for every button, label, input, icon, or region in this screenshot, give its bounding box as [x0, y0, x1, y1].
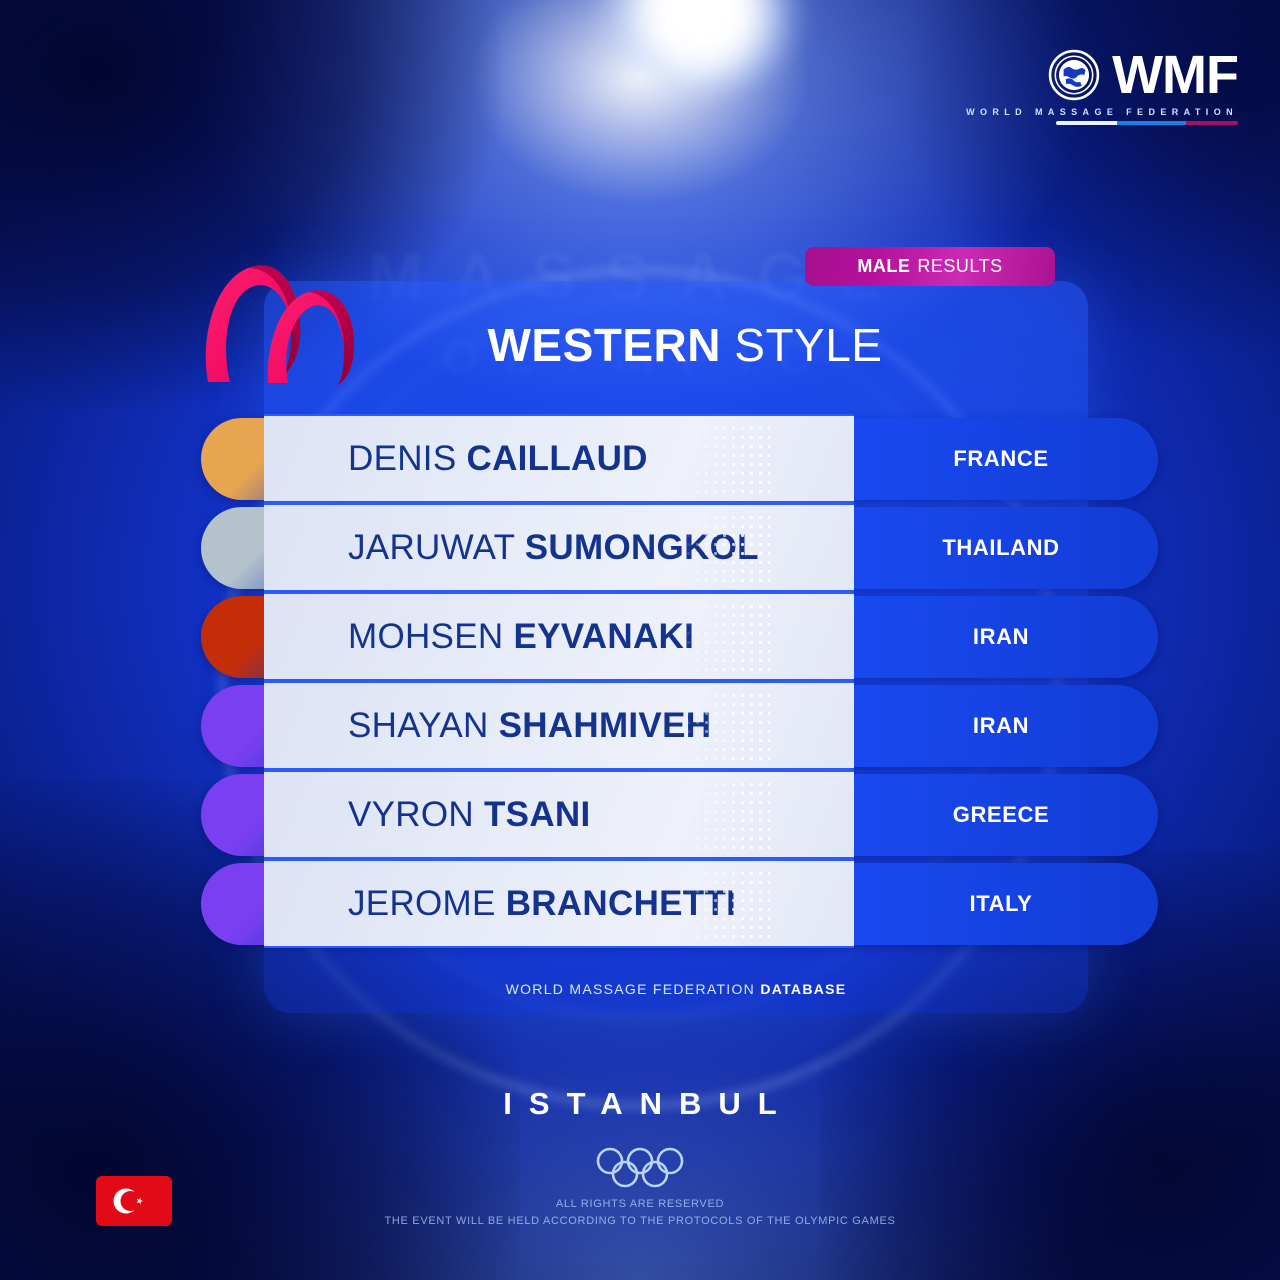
table-row[interactable]: FRANCE1DENIS CAILLAUD: [201, 414, 1158, 503]
athlete-last-name: CAILLAUD: [467, 439, 648, 478]
results-badge-label: RESULTS: [917, 256, 1002, 277]
athlete-name: SHAYAN SHAHMIVEH: [348, 706, 711, 746]
legal-line-1: ALL RIGHTS ARE RESERVED: [0, 1196, 1280, 1213]
wmf-accent-bar: [1056, 121, 1238, 125]
country-name: THAILAND: [872, 507, 1130, 589]
athlete-first-name: VYRON: [348, 795, 474, 834]
table-row[interactable]: THAILAND2JARUWAT SUMONGKOL: [201, 503, 1158, 592]
athlete-last-name: EYVANAKI: [513, 617, 694, 656]
table-row[interactable]: GREECE5VYRON TSANI: [201, 770, 1158, 859]
athlete-first-name: DENIS: [348, 439, 456, 478]
name-plate: DENIS CAILLAUD: [264, 414, 854, 503]
athlete-name: VYRON TSANI: [348, 795, 591, 835]
results-badge-gender: MALE: [857, 256, 910, 277]
athlete-first-name: MOHSEN: [348, 617, 503, 656]
host-city: ISTANBUL: [0, 1086, 1280, 1122]
globe-icon: [1048, 49, 1100, 101]
olympic-rings-icon: [594, 1147, 686, 1189]
table-row[interactable]: IRAN3MOHSEN EYVANAKI⚜: [201, 592, 1158, 681]
halftone-dots-decoration: [684, 780, 770, 852]
name-plate: VYRON TSANI: [264, 770, 854, 859]
name-plate: SHAYAN SHAHMIVEH⚜: [264, 681, 854, 770]
halftone-dots-decoration: [684, 602, 770, 674]
table-row[interactable]: ITALY6JEROME BRANCHETTI: [201, 859, 1158, 948]
athlete-first-name: SHAYAN: [348, 706, 489, 745]
halftone-dots-decoration: [684, 691, 770, 763]
database-caption-light: WORLD MASSAGE FEDERATION: [506, 981, 756, 997]
page-title: WESTERN STYLE: [420, 318, 950, 372]
m-ribbon-logo-icon: [196, 252, 366, 387]
wmf-logo-row: WMF: [1048, 48, 1238, 102]
database-caption-bold: DATABASE: [760, 981, 846, 997]
legal-notice: ALL RIGHTS ARE RESERVED THE EVENT WILL B…: [0, 1196, 1280, 1230]
name-plate: MOHSEN EYVANAKI⚜: [264, 592, 854, 681]
country-name: IRAN: [872, 685, 1130, 767]
wmf-initials: WMF: [1112, 48, 1238, 102]
halftone-dots-decoration: [684, 424, 770, 496]
table-row[interactable]: IRAN4SHAYAN SHAHMIVEH⚜: [201, 681, 1158, 770]
results-list: FRANCE1DENIS CAILLAUDTHAILAND2JARUWAT SU…: [201, 414, 1158, 948]
name-plate: JEROME BRANCHETTI: [264, 859, 854, 948]
male-results-badge: MALE RESULTS: [805, 247, 1055, 286]
page-title-bold: WESTERN: [487, 319, 721, 371]
database-caption: WORLD MASSAGE FEDERATION DATABASE: [264, 981, 1088, 997]
athlete-first-name: JARUWAT: [348, 528, 515, 567]
wmf-logo: WMF WORLD MASSAGE FEDERATION: [966, 48, 1238, 125]
page-title-light: STYLE: [734, 319, 882, 371]
halftone-dots-decoration: [684, 869, 770, 941]
athlete-last-name: TSANI: [484, 795, 591, 834]
wmf-subtitle: WORLD MASSAGE FEDERATION: [966, 107, 1238, 117]
country-name: FRANCE: [872, 418, 1130, 500]
flag-turkey-icon: [96, 1176, 172, 1226]
athlete-last-name: SHAHMIVEH: [499, 706, 712, 745]
name-plate: JARUWAT SUMONGKOL: [264, 503, 854, 592]
athlete-name: JEROME BRANCHETTI: [348, 884, 736, 924]
country-name: ITALY: [872, 863, 1130, 945]
athlete-name: MOHSEN EYVANAKI: [348, 617, 694, 657]
legal-line-2: THE EVENT WILL BE HELD ACCORDING TO THE …: [0, 1213, 1280, 1230]
country-name: GREECE: [872, 774, 1130, 856]
halftone-dots-decoration: [684, 513, 770, 585]
athlete-name: DENIS CAILLAUD: [348, 439, 648, 479]
athlete-first-name: JEROME: [348, 884, 496, 923]
country-name: IRAN: [872, 596, 1130, 678]
